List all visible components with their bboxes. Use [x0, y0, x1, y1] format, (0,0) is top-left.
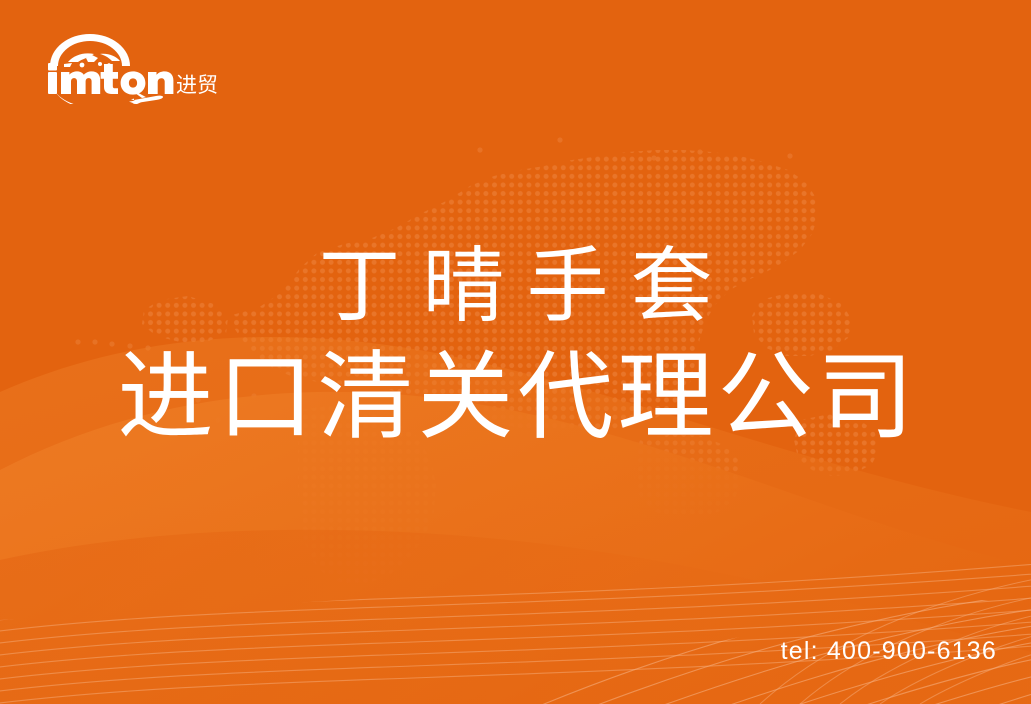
globe-arc-icon — [50, 34, 130, 67]
headline-block: 丁晴手套 进口清关代理公司 — [0, 232, 1031, 454]
promo-banner: 进贸通 ® 丁晴手套 进口清关代理公司 tel: 400-900-6136 — [0, 0, 1031, 704]
logo-wordmark — [48, 63, 173, 95]
headline-line-2: 进口清关代理公司 — [0, 342, 1031, 454]
logo-chinese-name: 进贸通 — [176, 73, 218, 97]
headline-line-1: 丁晴手套 — [0, 232, 1031, 342]
company-logo[interactable]: 进贸通 ® — [38, 28, 218, 104]
contact-telephone[interactable]: tel: 400-900-6136 — [781, 637, 997, 666]
